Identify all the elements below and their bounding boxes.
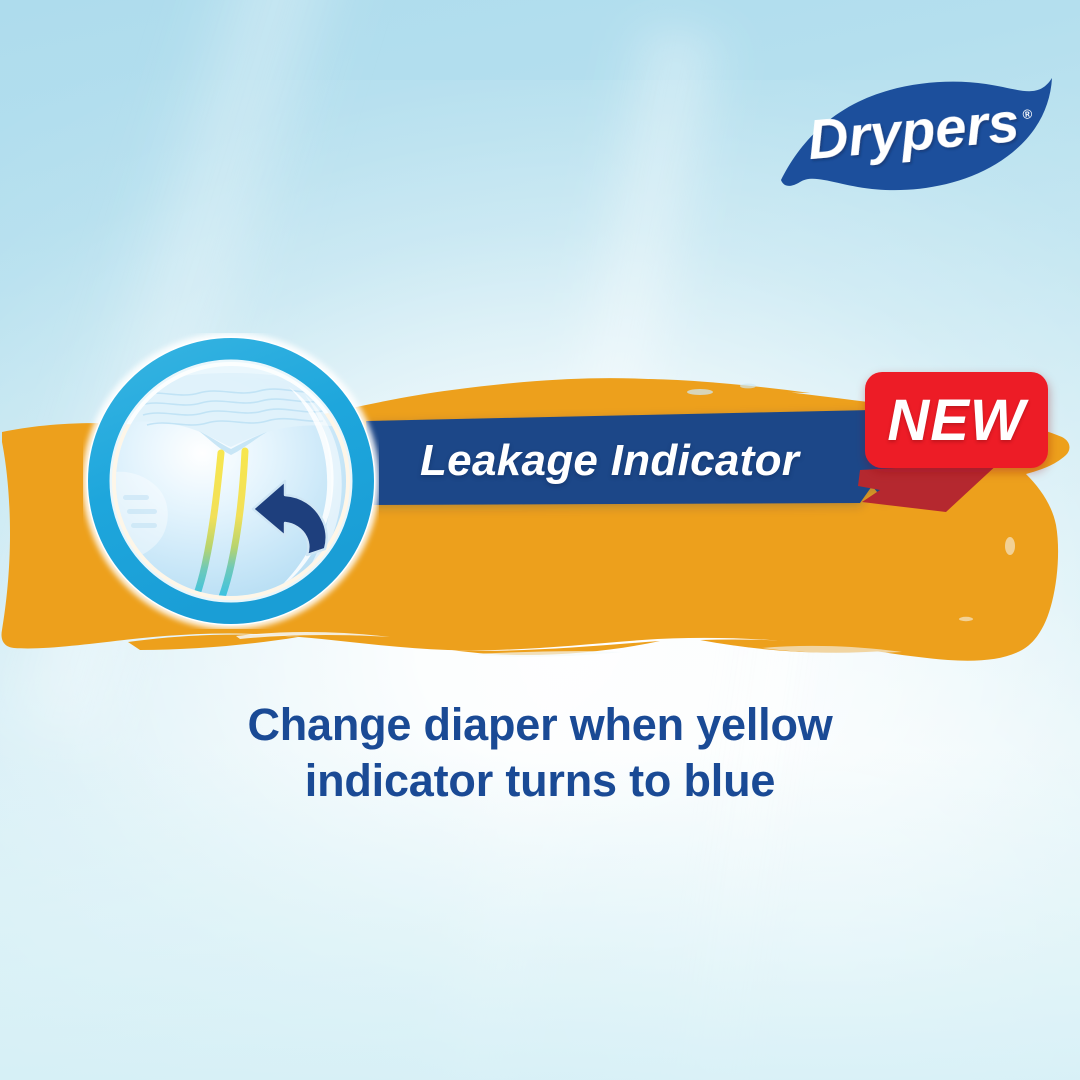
new-badge-label: NEW bbox=[865, 372, 1048, 468]
poster-canvas: Leakage Indicator NEW bbox=[0, 0, 1080, 1080]
drypers-logo: Drypers ® bbox=[770, 62, 1060, 202]
magnified-diaper-indicator-icon bbox=[83, 333, 379, 629]
caption-block: Change diaper when yellow indicator turn… bbox=[0, 697, 1080, 810]
caption-line-1: Change diaper when yellow bbox=[0, 697, 1080, 753]
logo-trademark-symbol: ® bbox=[1022, 106, 1033, 122]
banner-label: Leakage Indicator bbox=[420, 424, 860, 498]
caption-line-2: indicator turns to blue bbox=[0, 753, 1080, 809]
